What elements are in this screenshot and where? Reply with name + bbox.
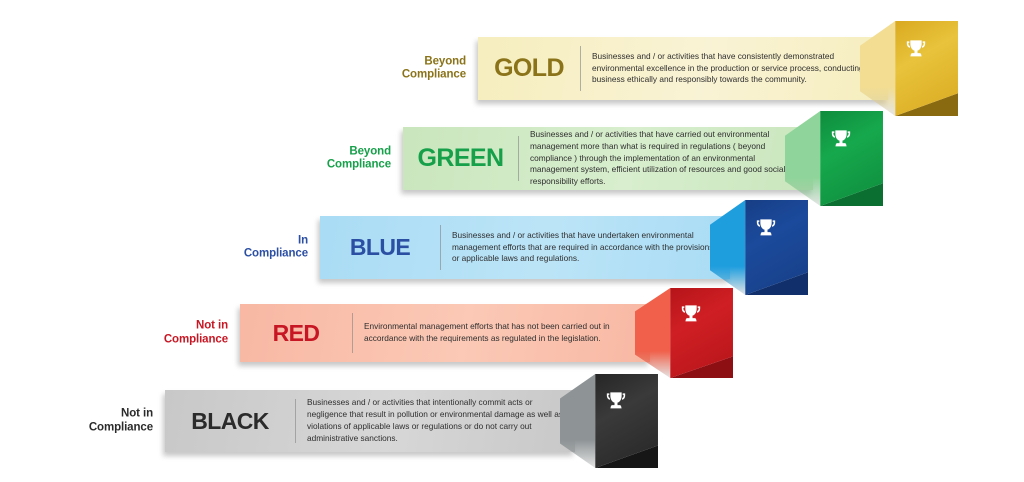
trophy-icon: [756, 218, 776, 240]
compliance-label-black: Not in Compliance: [13, 407, 153, 434]
tier-cube-gold: [860, 21, 958, 116]
tier-description-red: Environmental management efforts that ha…: [353, 321, 650, 345]
tier-bar-green: GREENBusinesses and / or activities that…: [403, 127, 813, 190]
tier-divider: [352, 313, 353, 353]
compliance-label-green: Beyond Compliance: [266, 145, 391, 172]
tier-cube-black: [560, 374, 658, 468]
compliance-label-gold: Beyond Compliance: [354, 55, 466, 82]
trophy-icon: [681, 304, 701, 326]
tier-description-black: Businesses and / or activities that inte…: [296, 397, 575, 444]
tier-cube-green: [785, 111, 883, 206]
tier-bar-blue: BLUEBusinesses and / or activities that …: [320, 216, 730, 279]
compliance-label-blue: In Compliance: [178, 234, 308, 261]
tier-description-gold: Businesses and / or activities that have…: [581, 51, 888, 86]
tier-row-gold: Beyond ComplianceGOLDBusinesses and / or…: [478, 37, 888, 100]
rating-name-black: BLACK: [165, 408, 295, 435]
rating-name-gold: GOLD: [478, 54, 580, 83]
tier-divider: [580, 46, 581, 91]
tier-divider: [295, 399, 296, 443]
rating-name-blue: BLUE: [320, 234, 440, 261]
trophy-icon: [606, 391, 626, 413]
tier-row-blue: In ComplianceBLUEBusinesses and / or act…: [320, 216, 730, 279]
trophy-icon: [831, 129, 851, 151]
tier-row-black: Not in ComplianceBLACKBusinesses and / o…: [165, 390, 575, 452]
tier-cube-blue: [710, 200, 808, 295]
tier-bar-gold: GOLDBusinesses and / or activities that …: [478, 37, 888, 100]
tier-divider: [518, 136, 519, 181]
tier-description-blue: Businesses and / or activities that have…: [441, 230, 730, 265]
trophy-icon: [906, 39, 926, 61]
rating-name-green: GREEN: [403, 144, 518, 173]
tier-divider: [440, 225, 441, 270]
tier-bar-black: BLACKBusinesses and / or activities that…: [165, 390, 575, 452]
tier-row-red: Not in ComplianceREDEnvironmental manage…: [240, 304, 650, 362]
compliance-ladder-infographic: Beyond ComplianceGOLDBusinesses and / or…: [0, 0, 1024, 482]
tier-cube-red: [635, 288, 733, 378]
compliance-label-red: Not in Compliance: [106, 319, 228, 346]
tier-row-green: Beyond ComplianceGREENBusinesses and / o…: [403, 127, 813, 190]
rating-name-red: RED: [240, 320, 352, 347]
tier-bar-red: REDEnvironmental management efforts that…: [240, 304, 650, 362]
tier-description-green: Businesses and / or activities that have…: [519, 129, 813, 188]
